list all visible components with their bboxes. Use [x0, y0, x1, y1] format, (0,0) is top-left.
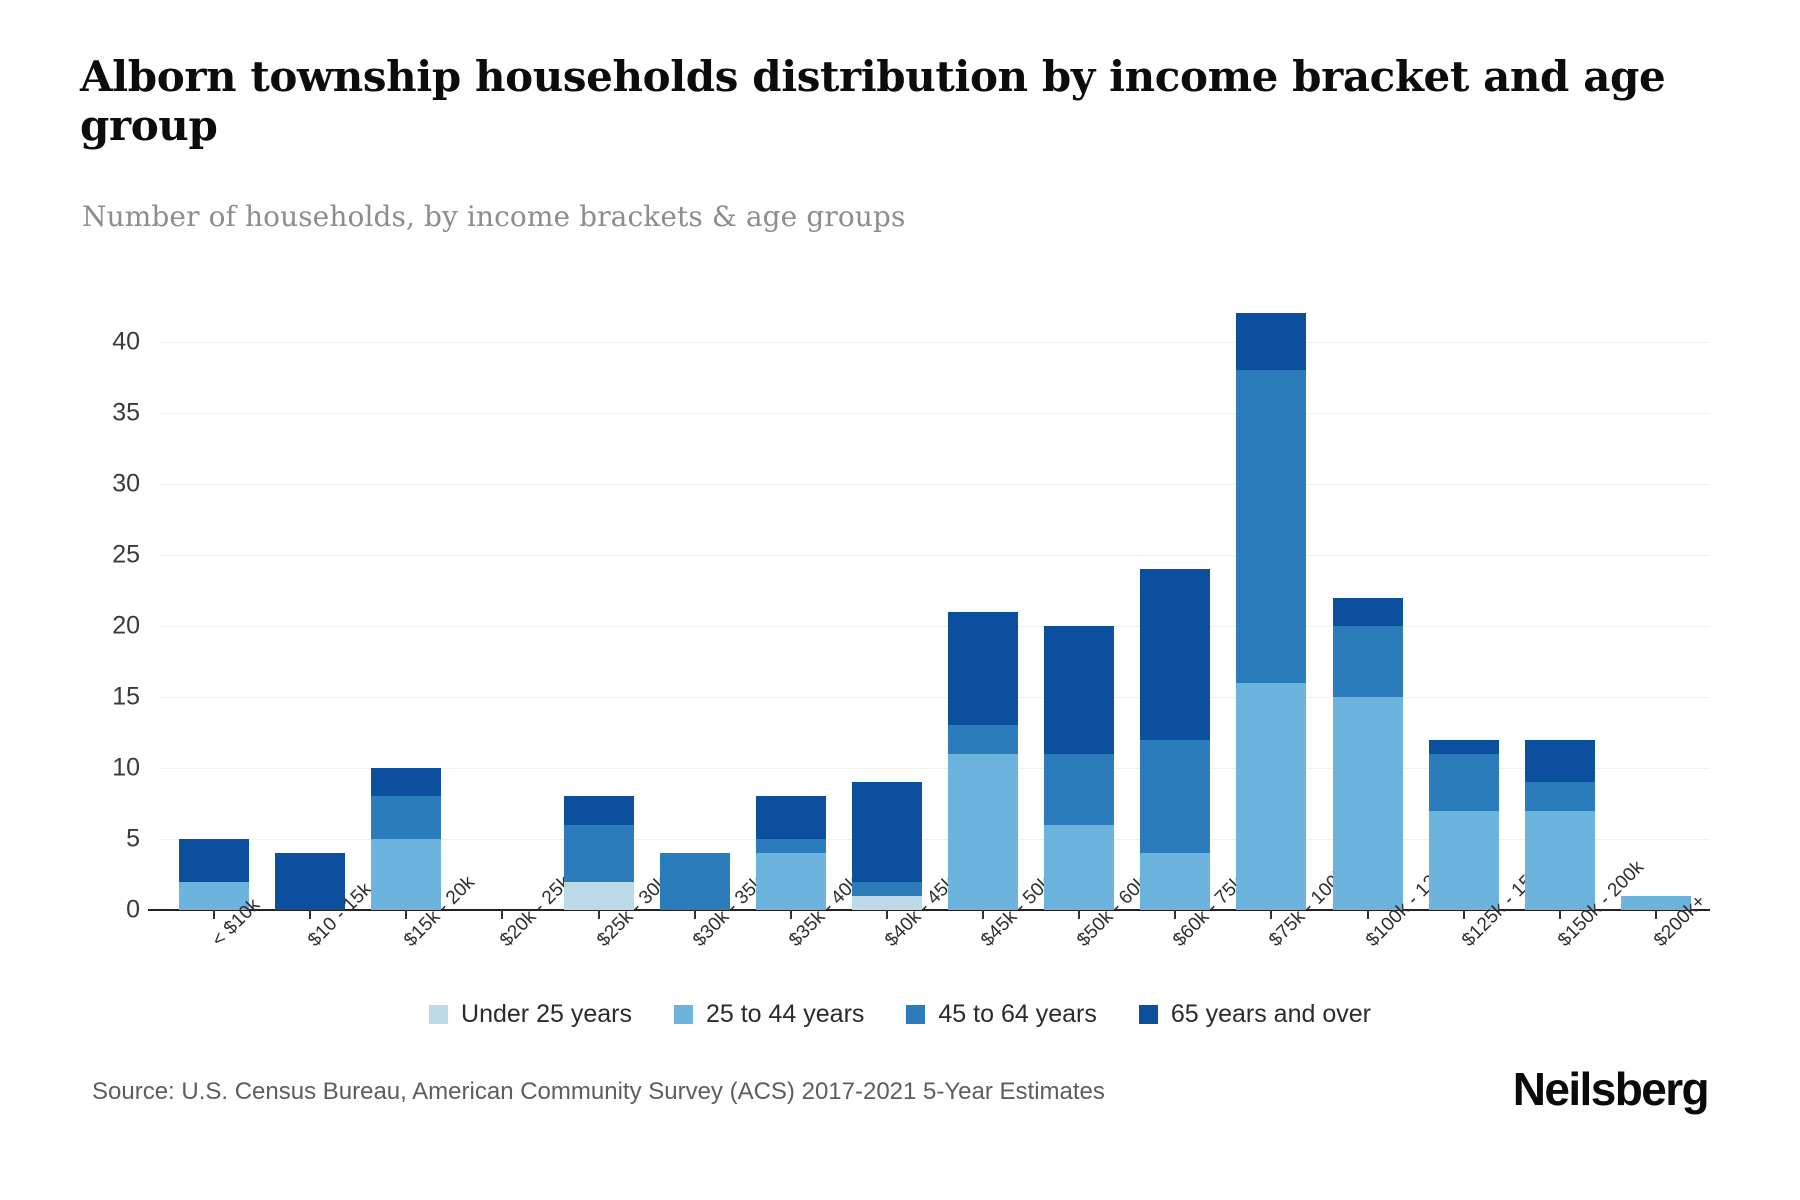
bar-segment[interactable] — [1333, 697, 1403, 910]
y-axis-tick-label: 20 — [112, 611, 140, 640]
bar-stack[interactable] — [852, 782, 922, 910]
bar-segment[interactable] — [660, 853, 730, 910]
bar-segment[interactable] — [852, 882, 922, 896]
chart-page: Alborn township households distribution … — [0, 0, 1800, 1200]
bar-segment[interactable] — [1236, 313, 1306, 370]
x-axis-tick — [309, 910, 311, 919]
bar-stack[interactable] — [564, 796, 634, 910]
bar-segment[interactable] — [564, 825, 634, 882]
bar-segment[interactable] — [564, 796, 634, 824]
bar-stack[interactable] — [1525, 740, 1595, 910]
y-axis-tick-label: 25 — [112, 540, 140, 569]
legend-swatch-icon — [429, 1005, 448, 1024]
x-axis-tick — [501, 910, 503, 919]
legend-label: 65 years and over — [1171, 1000, 1371, 1029]
plot-area: 0510152025303540 < $10k$10 - 15k$15k - 2… — [160, 285, 1710, 910]
bar-segment[interactable] — [1525, 782, 1595, 810]
bar-segment[interactable] — [1140, 853, 1210, 910]
legend-swatch-icon — [1139, 1005, 1158, 1024]
bar-segment[interactable] — [948, 612, 1018, 726]
y-axis-tick-label: 30 — [112, 469, 140, 498]
bar-segment[interactable] — [371, 839, 441, 910]
x-axis-tick — [405, 910, 407, 919]
source-note: Source: U.S. Census Bureau, American Com… — [92, 1078, 1105, 1106]
legend-item[interactable]: 65 years and over — [1139, 1000, 1371, 1029]
bar-column[interactable]: $45k - 50k — [935, 285, 1031, 910]
bar-segment[interactable] — [1429, 754, 1499, 811]
x-axis-tick — [1367, 910, 1369, 919]
bar-column[interactable]: $35k - 40k — [743, 285, 839, 910]
bar-segment[interactable] — [948, 754, 1018, 910]
bar-series-group: < $10k$10 - 15k$15k - 20k$20k - 25k$25k … — [160, 285, 1710, 910]
bar-segment[interactable] — [1333, 626, 1403, 697]
bar-column[interactable]: $60k - 75k — [1127, 285, 1223, 910]
bar-column[interactable]: $125k - 150k — [1416, 285, 1512, 910]
y-axis-tick-label: 5 — [126, 824, 140, 853]
bar-stack[interactable] — [275, 853, 345, 910]
bar-segment[interactable] — [1044, 825, 1114, 910]
page-subtitle: Number of households, by income brackets… — [82, 200, 905, 233]
bar-column[interactable]: $40k - 45k — [839, 285, 935, 910]
bar-segment[interactable] — [1236, 370, 1306, 683]
x-axis-tick — [1463, 910, 1465, 919]
x-axis-tick — [213, 910, 215, 919]
bar-stack[interactable] — [1333, 598, 1403, 910]
chart-legend: Under 25 years25 to 44 years45 to 64 yea… — [0, 1000, 1800, 1029]
bar-segment[interactable] — [852, 782, 922, 881]
x-axis-tick — [1270, 910, 1272, 919]
y-axis-tick-label: 15 — [112, 682, 140, 711]
bar-column[interactable]: $50k - 60k — [1031, 285, 1127, 910]
bar-segment[interactable] — [1140, 569, 1210, 739]
bar-column[interactable]: $75k - 100k — [1223, 285, 1319, 910]
bar-segment[interactable] — [948, 725, 1018, 753]
x-axis-tick — [790, 910, 792, 919]
bar-stack[interactable] — [1236, 313, 1306, 910]
page-title: Alborn township households distribution … — [80, 52, 1720, 150]
x-axis-tick — [1078, 910, 1080, 919]
bar-segment[interactable] — [756, 839, 826, 853]
x-axis-tick — [982, 910, 984, 919]
bar-segment[interactable] — [1429, 740, 1499, 754]
legend-swatch-icon — [906, 1005, 925, 1024]
legend-swatch-icon — [674, 1005, 693, 1024]
legend-label: 45 to 64 years — [938, 1000, 1096, 1029]
bar-column[interactable]: < $10k — [166, 285, 262, 910]
x-axis-tick — [598, 910, 600, 919]
bar-column[interactable]: $20k - 25k — [454, 285, 550, 910]
x-axis-tick — [1174, 910, 1176, 919]
bar-stack[interactable] — [371, 768, 441, 910]
bar-column[interactable]: $200k+ — [1608, 285, 1704, 910]
x-axis-tick — [694, 910, 696, 919]
x-axis-tick — [1655, 910, 1657, 919]
y-axis-tick-label: 10 — [112, 753, 140, 782]
bar-column[interactable]: $30k - 35k — [647, 285, 743, 910]
bar-stack[interactable] — [756, 796, 826, 910]
bar-stack[interactable] — [1429, 740, 1499, 910]
bar-segment[interactable] — [371, 768, 441, 796]
bar-segment[interactable] — [275, 853, 345, 910]
bar-stack[interactable] — [179, 839, 249, 910]
bar-segment[interactable] — [756, 796, 826, 839]
legend-item[interactable]: Under 25 years — [429, 1000, 632, 1029]
bar-segment[interactable] — [1429, 811, 1499, 910]
bar-stack[interactable] — [948, 612, 1018, 910]
x-axis-tick — [886, 910, 888, 919]
bar-column[interactable]: $150k - 200k — [1512, 285, 1608, 910]
bar-segment[interactable] — [1236, 683, 1306, 910]
y-axis-tick-label: 35 — [112, 398, 140, 427]
bar-column[interactable]: $25k - 30k — [551, 285, 647, 910]
y-axis-tick-label: 40 — [112, 327, 140, 356]
bar-stack[interactable] — [1044, 626, 1114, 910]
bar-segment[interactable] — [1044, 754, 1114, 825]
bar-stack[interactable] — [660, 853, 730, 910]
bar-segment[interactable] — [1525, 740, 1595, 783]
bar-segment[interactable] — [1140, 740, 1210, 854]
brand-logo: Neilsberg — [1513, 1062, 1708, 1116]
legend-item[interactable]: 45 to 64 years — [906, 1000, 1096, 1029]
x-axis-tick — [1559, 910, 1561, 919]
legend-item[interactable]: 25 to 44 years — [674, 1000, 864, 1029]
bar-column[interactable]: $10 - 15k — [262, 285, 358, 910]
bar-segment[interactable] — [1333, 598, 1403, 626]
bar-segment[interactable] — [1525, 811, 1595, 910]
bar-stack[interactable] — [1140, 569, 1210, 910]
y-axis-tick-label: 0 — [126, 896, 140, 925]
legend-label: Under 25 years — [461, 1000, 632, 1029]
bar-segment[interactable] — [756, 853, 826, 910]
bar-column[interactable]: $100k - 125k — [1320, 285, 1416, 910]
bar-segment[interactable] — [371, 796, 441, 839]
legend-label: 25 to 44 years — [706, 1000, 864, 1029]
bar-column[interactable]: $15k - 20k — [358, 285, 454, 910]
bar-segment[interactable] — [1044, 626, 1114, 754]
bar-segment[interactable] — [179, 839, 249, 882]
